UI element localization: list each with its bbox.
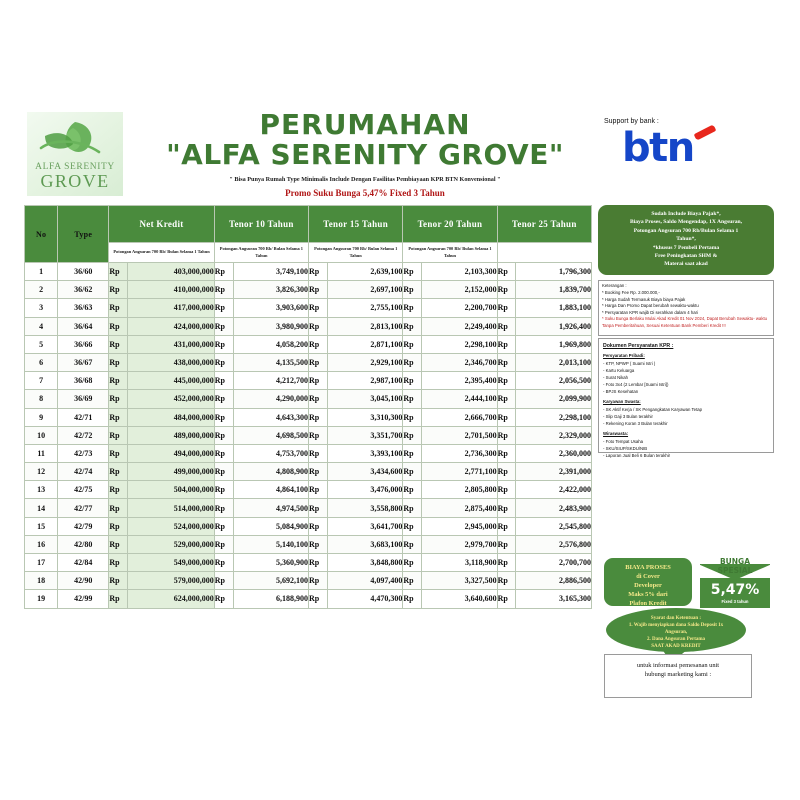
cell-net-kredit: 438,000,000 (128, 353, 215, 371)
subheader-tenor-20: Potongan Angsuran 700 Rb/ Bulan Selama 1… (309, 243, 403, 263)
table-row: 536/66Rp431,000,000Rp4,058,200Rp2,871,10… (25, 335, 592, 353)
cell-type: 36/66 (58, 335, 109, 353)
cell-currency-tenor-20: Rp (403, 499, 422, 517)
cell-currency-tenor-10: Rp (214, 517, 233, 535)
cell-net-kredit: 424,000,000 (128, 317, 215, 335)
cell-currency-tenor-15: Rp (309, 353, 328, 371)
cell-tenor-25: 1,839,700 (516, 281, 592, 299)
cell-tenor-20: 2,152,000 (422, 281, 497, 299)
bank-support-block: Support by bank : btn (600, 118, 780, 168)
biaya-proses-line: Developer (604, 581, 692, 590)
cell-currency-tenor-20: Rp (403, 590, 422, 608)
cell-currency-tenor-25: Rp (497, 335, 516, 353)
include-line: *khusus 7 Pembeli Pertama (603, 244, 769, 252)
cell-tenor-15: 2,987,100 (327, 372, 402, 390)
include-line: Materai saat akad (603, 260, 769, 268)
col-net-kredit: Net Kredit (109, 206, 214, 243)
cell-currency-tenor-15: Rp (309, 590, 328, 608)
project-logo: ALFA SERENITY GROVE (27, 112, 123, 196)
cell-no: 5 (25, 335, 58, 353)
cell-tenor-25: 2,886,500 (516, 572, 592, 590)
cell-type: 42/90 (58, 572, 109, 590)
cell-currency-tenor-10: Rp (214, 463, 233, 481)
cell-currency-tenor-15: Rp (309, 408, 328, 426)
cell-currency-tenor-25: Rp (497, 408, 516, 426)
cell-tenor-10: 4,864,100 (233, 481, 308, 499)
cell-tenor-20: 2,298,100 (422, 335, 497, 353)
cell-no: 14 (25, 499, 58, 517)
cell-tenor-15: 3,393,100 (327, 444, 402, 462)
dokumen-item: - SKU/SIUP/SKDU/NIB (603, 446, 769, 453)
biaya-proses-line: di Cover (604, 572, 692, 581)
cell-type: 42/80 (58, 535, 109, 553)
cell-currency-tenor-15: Rp (309, 463, 328, 481)
cell-currency-net: Rp (109, 444, 128, 462)
cell-type: 36/63 (58, 299, 109, 317)
cell-no: 11 (25, 444, 58, 462)
cell-tenor-10: 4,135,500 (233, 353, 308, 371)
cell-tenor-10: 3,980,900 (233, 317, 308, 335)
include-line: Tahun*, (603, 235, 769, 243)
cell-currency-tenor-10: Rp (214, 390, 233, 408)
cell-currency-tenor-25: Rp (497, 353, 516, 371)
cell-tenor-10: 3,749,100 (233, 263, 308, 281)
cell-tenor-15: 4,470,300 (327, 590, 402, 608)
cell-currency-tenor-15: Rp (309, 499, 328, 517)
cell-tenor-25: 3,165,300 (516, 590, 592, 608)
cell-currency-tenor-10: Rp (214, 263, 233, 281)
cell-currency-tenor-25: Rp (497, 590, 516, 608)
cell-tenor-25: 1,926,400 (516, 317, 592, 335)
cell-tenor-10: 4,212,700 (233, 372, 308, 390)
cell-currency-net: Rp (109, 353, 128, 371)
cell-tenor-15: 2,755,100 (327, 299, 402, 317)
cell-tenor-15: 3,045,100 (327, 390, 402, 408)
cell-tenor-25: 2,576,800 (516, 535, 592, 553)
cell-type: 42/73 (58, 444, 109, 462)
cell-currency-tenor-20: Rp (403, 281, 422, 299)
cell-currency-net: Rp (109, 590, 128, 608)
cell-currency-net: Rp (109, 463, 128, 481)
cell-currency-tenor-20: Rp (403, 535, 422, 553)
cell-currency-tenor-10: Rp (214, 554, 233, 572)
table-row: 1842/90Rp579,000,000Rp5,692,100Rp4,097,4… (25, 572, 592, 590)
cell-tenor-20: 2,945,000 (422, 517, 497, 535)
dokumen-item: - Laporan Jual Beli 6 Bulan terakhir (603, 453, 769, 460)
cell-tenor-25: 2,545,800 (516, 517, 592, 535)
cell-no: 6 (25, 353, 58, 371)
cell-currency-net: Rp (109, 299, 128, 317)
panel-dokumen-persyaratan: Dokumen Persyaratan KPR : Persyaratan Pr… (598, 338, 774, 453)
col-tenor-10: Tenor 10 Tahun (214, 206, 308, 243)
cell-tenor-10: 4,698,500 (233, 426, 308, 444)
cell-tenor-25: 2,329,000 (516, 426, 592, 444)
cell-net-kredit: 499,000,000 (128, 463, 215, 481)
table-row: 942/71Rp484,000,000Rp4,643,300Rp3,310,30… (25, 408, 592, 426)
cell-net-kredit: 624,000,000 (128, 590, 215, 608)
cell-currency-tenor-10: Rp (214, 372, 233, 390)
cell-currency-tenor-15: Rp (309, 390, 328, 408)
cell-currency-net: Rp (109, 263, 128, 281)
cell-tenor-10: 5,084,900 (233, 517, 308, 535)
table-row: 136/60Rp403,000,000Rp3,749,100Rp2,639,10… (25, 263, 592, 281)
cell-type: 42/77 (58, 499, 109, 517)
cell-net-kredit: 504,000,000 (128, 481, 215, 499)
cell-tenor-10: 5,692,100 (233, 572, 308, 590)
cell-currency-tenor-15: Rp (309, 517, 328, 535)
cell-tenor-15: 2,697,100 (327, 281, 402, 299)
dokumen-item: - Foto 3x4 (2 Lembar [Suami Istri]) (603, 382, 769, 389)
bunga-rate: 5,47% (700, 583, 770, 597)
subheader-tenor-15: Potongan Angsuran 700 Rb/ Bulan Selama 1… (214, 243, 308, 263)
col-tenor-20: Tenor 20 Tahun (403, 206, 497, 243)
cell-tenor-10: 3,826,300 (233, 281, 308, 299)
cell-currency-tenor-20: Rp (403, 572, 422, 590)
dokumen-group2-items: - SK Aktif Kerja / SK Pengangkatan Karya… (603, 407, 769, 428)
cell-no: 16 (25, 535, 58, 553)
cell-no: 3 (25, 299, 58, 317)
table-row: 636/67Rp438,000,000Rp4,135,500Rp2,929,10… (25, 353, 592, 371)
cell-currency-tenor-20: Rp (403, 317, 422, 335)
page-title: PERUMAHAN (150, 110, 580, 139)
cell-tenor-15: 2,929,100 (327, 353, 402, 371)
cell-currency-tenor-20: Rp (403, 390, 422, 408)
include-line: Potongan Angsuran 700 Rb/Bulan Selama 1 (603, 227, 769, 235)
cell-tenor-10: 4,974,500 (233, 499, 308, 517)
cell-tenor-10: 3,903,600 (233, 299, 308, 317)
cell-currency-net: Rp (109, 535, 128, 553)
cell-net-kredit: 524,000,000 (128, 517, 215, 535)
table-row: 1642/80Rp529,000,000Rp5,140,100Rp3,683,1… (25, 535, 592, 553)
cell-currency-net: Rp (109, 572, 128, 590)
cell-tenor-25: 2,483,900 (516, 499, 592, 517)
cell-tenor-10: 6,188,900 (233, 590, 308, 608)
cell-currency-tenor-20: Rp (403, 481, 422, 499)
cell-currency-tenor-20: Rp (403, 426, 422, 444)
cell-currency-tenor-25: Rp (497, 517, 516, 535)
cell-currency-tenor-10: Rp (214, 444, 233, 462)
cell-tenor-15: 3,683,100 (327, 535, 402, 553)
dokumen-group2-title: Karyawan Swasta: (603, 399, 769, 406)
biaya-proses-line: BIAYA PROSES (604, 563, 692, 572)
cell-tenor-10: 4,808,900 (233, 463, 308, 481)
cell-tenor-20: 2,666,700 (422, 408, 497, 426)
dokumen-item: - Rekening Koran 3 Bulan terakhir (603, 421, 769, 428)
cell-currency-tenor-20: Rp (403, 408, 422, 426)
cell-tenor-20: 2,805,800 (422, 481, 497, 499)
cell-net-kredit: 529,000,000 (128, 535, 215, 553)
cell-currency-tenor-15: Rp (309, 335, 328, 353)
dokumen-item: - Slip Gaji 3 Bulan terakhir (603, 414, 769, 421)
table-row: 1942/99Rp624,000,000Rp6,188,900Rp4,470,3… (25, 590, 592, 608)
cell-net-kredit: 489,000,000 (128, 426, 215, 444)
bubble-syarat-ketentuan: Syarat dan Ketentuan :1. Wajib menyiapka… (606, 608, 746, 652)
cell-currency-tenor-15: Rp (309, 299, 328, 317)
cell-tenor-15: 3,434,600 (327, 463, 402, 481)
cell-currency-tenor-25: Rp (497, 263, 516, 281)
cell-net-kredit: 579,000,000 (128, 572, 215, 590)
cell-net-kredit: 417,000,000 (128, 299, 215, 317)
cell-currency-net: Rp (109, 481, 128, 499)
btn-bank-logo: btn (622, 128, 742, 168)
cell-type: 36/68 (58, 372, 109, 390)
cell-currency-tenor-20: Rp (403, 335, 422, 353)
dokumen-item: - SK Aktif Kerja / SK Pengangkatan Karya… (603, 407, 769, 414)
cell-currency-tenor-15: Rp (309, 281, 328, 299)
col-tenor-15: Tenor 15 Tahun (309, 206, 403, 243)
table-row: 1742/84Rp549,000,000Rp5,360,900Rp3,848,8… (25, 554, 592, 572)
table-row: 436/64Rp424,000,000Rp3,980,900Rp2,813,10… (25, 317, 592, 335)
cell-currency-tenor-15: Rp (309, 426, 328, 444)
support-label: Support by bank : (604, 118, 780, 125)
biaya-proses-line: Maks 5% dari (604, 590, 692, 599)
cell-tenor-20: 2,444,100 (422, 390, 497, 408)
syarat-line: 2. Dana Angsuran Pertama (616, 636, 736, 643)
table-row: 1042/72Rp489,000,000Rp4,698,500Rp3,351,7… (25, 426, 592, 444)
cell-currency-tenor-25: Rp (497, 317, 516, 335)
cell-currency-net: Rp (109, 554, 128, 572)
cell-currency-tenor-25: Rp (497, 499, 516, 517)
cell-no: 10 (25, 426, 58, 444)
cell-currency-tenor-10: Rp (214, 281, 233, 299)
syarat-line: Angsuran, (616, 629, 736, 636)
cell-currency-tenor-25: Rp (497, 572, 516, 590)
cell-currency-tenor-25: Rp (497, 463, 516, 481)
cell-currency-tenor-20: Rp (403, 463, 422, 481)
dokumen-group1-title: Persyaratan Pribadi: (603, 353, 769, 360)
dokumen-group3-title: Wiraswasta: (603, 431, 769, 438)
cell-currency-tenor-15: Rp (309, 535, 328, 553)
leaf-icon (37, 118, 113, 162)
cell-net-kredit: 484,000,000 (128, 408, 215, 426)
table-row: 1242/74Rp499,000,000Rp4,808,900Rp3,434,6… (25, 463, 592, 481)
cell-tenor-20: 3,640,600 (422, 590, 497, 608)
col-type: Type (58, 206, 109, 263)
cell-tenor-15: 2,639,100 (327, 263, 402, 281)
cell-currency-tenor-20: Rp (403, 444, 422, 462)
btn-logo-text: btn (622, 128, 742, 168)
keterangan-title: Keterangan : (602, 283, 770, 290)
logo-line-2: GROVE (41, 171, 110, 192)
dokumen-item: - Foto Tempat Usaha (603, 439, 769, 446)
cell-currency-tenor-15: Rp (309, 554, 328, 572)
cell-currency-tenor-25: Rp (497, 281, 516, 299)
contact-line-2: hubungi marketing kami : (605, 670, 751, 679)
cell-type: 42/99 (58, 590, 109, 608)
cell-tenor-15: 4,097,400 (327, 572, 402, 590)
table-body: 136/60Rp403,000,000Rp3,749,100Rp2,639,10… (25, 263, 592, 609)
table-row: 1142/73Rp494,000,000Rp4,753,700Rp3,393,1… (25, 444, 592, 462)
cell-currency-tenor-20: Rp (403, 299, 422, 317)
cell-currency-tenor-15: Rp (309, 372, 328, 390)
cell-tenor-20: 2,701,500 (422, 426, 497, 444)
cell-currency-tenor-20: Rp (403, 263, 422, 281)
cell-type: 36/67 (58, 353, 109, 371)
bunga-fixed-term: Fixed 3 tahun (700, 599, 770, 604)
cell-no: 12 (25, 463, 58, 481)
cell-tenor-25: 2,700,700 (516, 554, 592, 572)
cell-currency-tenor-10: Rp (214, 335, 233, 353)
cell-currency-tenor-25: Rp (497, 390, 516, 408)
cell-tenor-20: 2,395,400 (422, 372, 497, 390)
dokumen-item: - Surat Nikah (603, 375, 769, 382)
cell-currency-tenor-25: Rp (497, 372, 516, 390)
cell-currency-tenor-25: Rp (497, 554, 516, 572)
cell-currency-tenor-15: Rp (309, 572, 328, 590)
cell-tenor-25: 2,013,100 (516, 353, 592, 371)
cell-currency-tenor-10: Rp (214, 353, 233, 371)
cell-currency-tenor-20: Rp (403, 554, 422, 572)
title-block: PERUMAHAN "ALFA SERENITY GROVE" " Bisa P… (150, 110, 580, 198)
cell-net-kredit: 403,000,000 (128, 263, 215, 281)
cell-currency-tenor-15: Rp (309, 317, 328, 335)
cell-currency-tenor-10: Rp (214, 317, 233, 335)
cell-type: 42/75 (58, 481, 109, 499)
cell-currency-tenor-15: Rp (309, 481, 328, 499)
cell-currency-tenor-10: Rp (214, 426, 233, 444)
cell-net-kredit: 514,000,000 (128, 499, 215, 517)
cell-tenor-15: 2,871,100 (327, 335, 402, 353)
dokumen-group3-items: - Foto Tempat Usaha- SKU/SIUP/SKDU/NIB- … (603, 439, 769, 460)
cell-tenor-25: 1,796,300 (516, 263, 592, 281)
cell-type: 42/74 (58, 463, 109, 481)
cell-type: 42/72 (58, 426, 109, 444)
table-row: 736/68Rp445,000,000Rp4,212,700Rp2,987,10… (25, 372, 592, 390)
syarat-line: 1. Wajib menyiapkan dana Saldo Deposit 1… (616, 622, 736, 629)
table-row: 1542/79Rp524,000,000Rp5,084,900Rp3,641,7… (25, 517, 592, 535)
cell-currency-net: Rp (109, 335, 128, 353)
cell-tenor-20: 2,736,300 (422, 444, 497, 462)
cell-currency-tenor-10: Rp (214, 572, 233, 590)
col-no: No (25, 206, 58, 263)
cell-type: 36/64 (58, 317, 109, 335)
keterangan-red-note: * Suku Bunga Berlaku Mulai Akad Kredit 0… (602, 316, 770, 329)
flyer-sheet: ALFA SERENITY GROVE PERUMAHAN "ALFA SERE… (0, 100, 800, 620)
cell-no: 4 (25, 317, 58, 335)
dokumen-item: - BPJS Kesehatan (603, 389, 769, 396)
cell-currency-tenor-25: Rp (497, 444, 516, 462)
cell-net-kredit: 410,000,000 (128, 281, 215, 299)
cell-tenor-20: 3,118,900 (422, 554, 497, 572)
bunga-header: BUNGA SPESIAL (700, 556, 770, 578)
flyer-page: ALFA SERENITY GROVE PERUMAHAN "ALFA SERE… (0, 0, 800, 800)
cell-currency-tenor-10: Rp (214, 408, 233, 426)
cell-currency-tenor-10: Rp (214, 299, 233, 317)
cell-tenor-25: 2,391,000 (516, 463, 592, 481)
cell-tenor-20: 2,249,400 (422, 317, 497, 335)
bunga-label-bottom: SPESIAL (700, 566, 770, 575)
keterangan-items: * Booking Fee Rp. 2.000.000,-* Harga Sud… (602, 290, 770, 316)
table-row: 236/62Rp410,000,000Rp3,826,300Rp2,697,10… (25, 281, 592, 299)
cell-tenor-20: 2,771,100 (422, 463, 497, 481)
cell-type: 42/71 (58, 408, 109, 426)
dokumen-item: - Kartu Keluarga (603, 368, 769, 375)
syarat-title: Syarat dan Ketentuan : (616, 615, 736, 622)
badge-biaya-proses: BIAYA PROSESdi CoverDeveloperMaks 5% dar… (604, 558, 692, 606)
cell-type: 36/69 (58, 390, 109, 408)
promo-banner: Promo Suku Bunga 5,47% Fixed 3 Tahun (150, 188, 580, 198)
table-row: 336/63Rp417,000,000Rp3,903,600Rp2,755,10… (25, 299, 592, 317)
table-header-row-sub: Potongan Angsuran 700 Rb/ Bulan Selama 1… (25, 243, 592, 263)
cell-currency-tenor-10: Rp (214, 499, 233, 517)
cell-tenor-25: 2,099,900 (516, 390, 592, 408)
subheader-tenor-25: Potongan Angsuran 700 Rb/ Bulan Selama 1… (403, 243, 497, 263)
cell-currency-net: Rp (109, 517, 128, 535)
cell-tenor-25: 2,298,100 (516, 408, 592, 426)
cell-currency-net: Rp (109, 372, 128, 390)
cell-currency-tenor-25: Rp (497, 535, 516, 553)
cell-tenor-10: 4,058,200 (233, 335, 308, 353)
cell-net-kredit: 452,000,000 (128, 390, 215, 408)
cell-currency-net: Rp (109, 317, 128, 335)
panel-include-biaya: Sudah Include Biaya Pajak*,Biaya Proses,… (598, 205, 774, 275)
cell-tenor-10: 4,290,000 (233, 390, 308, 408)
cell-type: 36/60 (58, 263, 109, 281)
cell-tenor-15: 3,351,700 (327, 426, 402, 444)
include-line: Biaya Proses, Saldo Mengendap, 1X Angsur… (603, 218, 769, 226)
cell-tenor-20: 2,200,700 (422, 299, 497, 317)
cell-tenor-15: 3,476,000 (327, 481, 402, 499)
cell-no: 13 (25, 481, 58, 499)
cell-tenor-15: 3,848,800 (327, 554, 402, 572)
cell-currency-tenor-20: Rp (403, 372, 422, 390)
cell-net-kredit: 494,000,000 (128, 444, 215, 462)
cell-type: 42/84 (58, 554, 109, 572)
cell-tenor-20: 2,979,700 (422, 535, 497, 553)
cell-tenor-15: 3,310,300 (327, 408, 402, 426)
cell-currency-tenor-20: Rp (403, 353, 422, 371)
cell-no: 17 (25, 554, 58, 572)
cell-tenor-10: 4,643,300 (233, 408, 308, 426)
table-row: 836/69Rp452,000,000Rp4,290,000Rp3,045,10… (25, 390, 592, 408)
dokumen-group1-items: - KTP, NPWP ( Suami Istri )- Kartu Kelua… (603, 361, 769, 396)
cell-currency-tenor-10: Rp (214, 481, 233, 499)
cell-currency-tenor-10: Rp (214, 590, 233, 608)
cell-currency-net: Rp (109, 281, 128, 299)
panel-keterangan: Keterangan : * Booking Fee Rp. 2.000.000… (598, 280, 774, 336)
badge-bunga-spesial: BUNGA SPESIAL 5,47% Fixed 3 tahun (700, 556, 770, 608)
cell-tenor-20: 3,327,500 (422, 572, 497, 590)
cell-currency-net: Rp (109, 426, 128, 444)
tagline: " Bisa Punya Rumah Type Minimalis Includ… (150, 176, 580, 183)
cell-currency-tenor-15: Rp (309, 444, 328, 462)
flyer-header: ALFA SERENITY GROVE PERUMAHAN "ALFA SERE… (0, 100, 800, 203)
cell-no: 1 (25, 263, 58, 281)
cell-no: 19 (25, 590, 58, 608)
bunga-label-top: BUNGA (700, 557, 770, 566)
cell-type: 36/62 (58, 281, 109, 299)
cell-no: 2 (25, 281, 58, 299)
cell-tenor-20: 2,346,700 (422, 353, 497, 371)
cell-currency-tenor-10: Rp (214, 535, 233, 553)
cell-tenor-15: 3,558,800 (327, 499, 402, 517)
cell-tenor-10: 4,753,700 (233, 444, 308, 462)
cell-tenor-15: 3,641,700 (327, 517, 402, 535)
cell-tenor-25: 1,969,800 (516, 335, 592, 353)
cell-currency-net: Rp (109, 408, 128, 426)
cell-tenor-25: 1,883,100 (516, 299, 592, 317)
cell-tenor-10: 5,360,900 (233, 554, 308, 572)
cell-currency-net: Rp (109, 499, 128, 517)
cell-no: 9 (25, 408, 58, 426)
dokumen-title: Dokumen Persyaratan KPR : (603, 342, 769, 350)
cell-net-kredit: 549,000,000 (128, 554, 215, 572)
col-tenor-25: Tenor 25 Tahun (497, 206, 591, 243)
page-subtitle-name: "ALFA SERENITY GROVE" (150, 140, 580, 171)
table-row: 1442/77Rp514,000,000Rp4,974,500Rp3,558,8… (25, 499, 592, 517)
cell-tenor-25: 2,056,500 (516, 372, 592, 390)
cell-no: 8 (25, 390, 58, 408)
